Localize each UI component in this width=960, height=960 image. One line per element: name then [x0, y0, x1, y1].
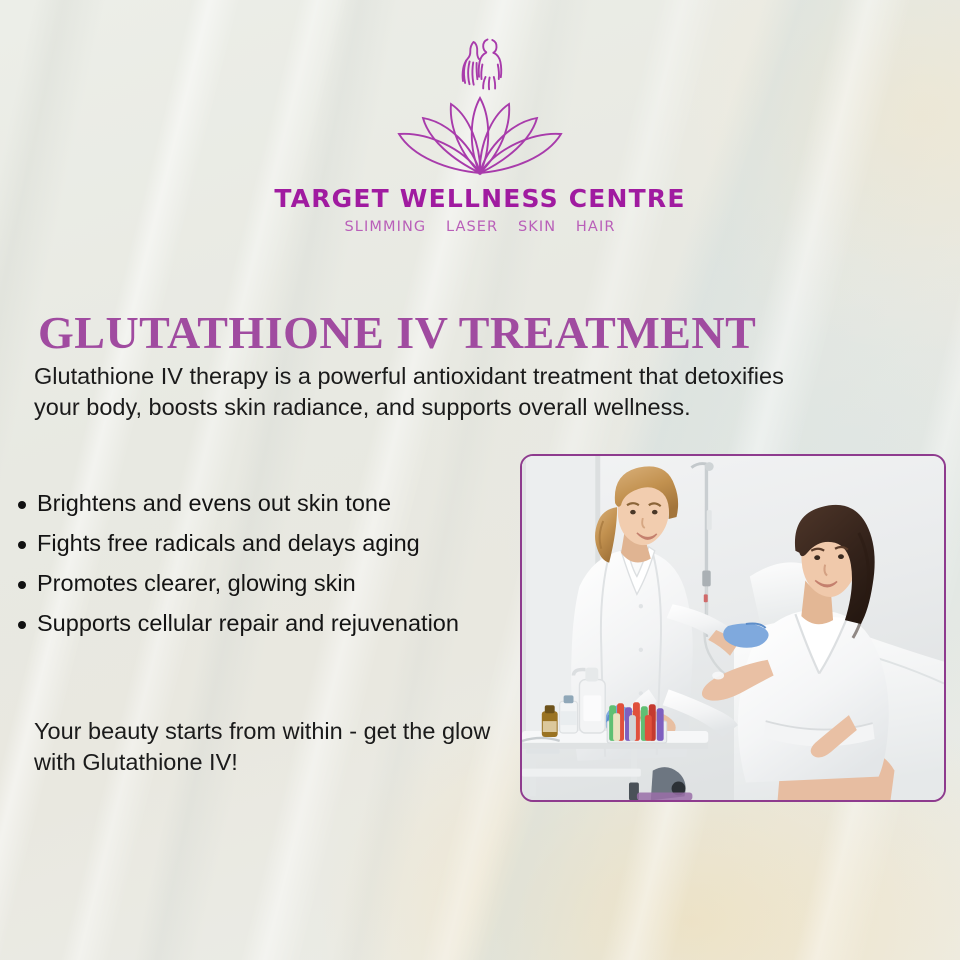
brand-services-tagline: SLIMMING LASER SKIN HAIR — [0, 220, 960, 235]
treatment-photo — [520, 454, 946, 802]
brand-logo-block: TARGET WELLNESS CENTRE SLIMMING LASER SK… — [0, 30, 960, 235]
bullet-dot-icon — [18, 541, 26, 549]
service-laser: LASER — [446, 219, 498, 235]
clinic-iv-therapy-photo-illustration — [522, 456, 944, 800]
benefit-label: Promotes clearer, glowing skin — [37, 570, 356, 596]
brand-name: TARGET WELLNESS CENTRE — [0, 186, 960, 211]
benefits-list: Brightens and evens out skin tone Fights… — [14, 492, 534, 652]
list-item: Promotes clearer, glowing skin — [14, 572, 534, 596]
bullet-dot-icon — [18, 581, 26, 589]
service-hair: HAIR — [576, 219, 616, 235]
closing-callout: Your beauty starts from within - get the… — [34, 716, 514, 779]
intro-paragraph: Glutathione IV therapy is a powerful ant… — [34, 361, 794, 423]
list-item: Supports cellular repair and rejuvenatio… — [14, 612, 534, 636]
lotus-couple-logo-icon — [365, 30, 595, 180]
service-slimming: SLIMMING — [344, 219, 426, 235]
benefit-label: Supports cellular repair and rejuvenatio… — [37, 610, 459, 636]
poster-canvas: TARGET WELLNESS CENTRE SLIMMING LASER SK… — [0, 0, 960, 960]
bullet-dot-icon — [18, 501, 26, 509]
benefit-label: Fights free radicals and delays aging — [37, 530, 420, 556]
page-title: GLUTATHIONE IV TREATMENT — [38, 309, 756, 357]
bullet-dot-icon — [18, 621, 26, 629]
benefit-label: Brightens and evens out skin tone — [37, 490, 391, 516]
list-item: Brightens and evens out skin tone — [14, 492, 534, 516]
list-item: Fights free radicals and delays aging — [14, 532, 534, 556]
service-skin: SKIN — [518, 219, 556, 235]
